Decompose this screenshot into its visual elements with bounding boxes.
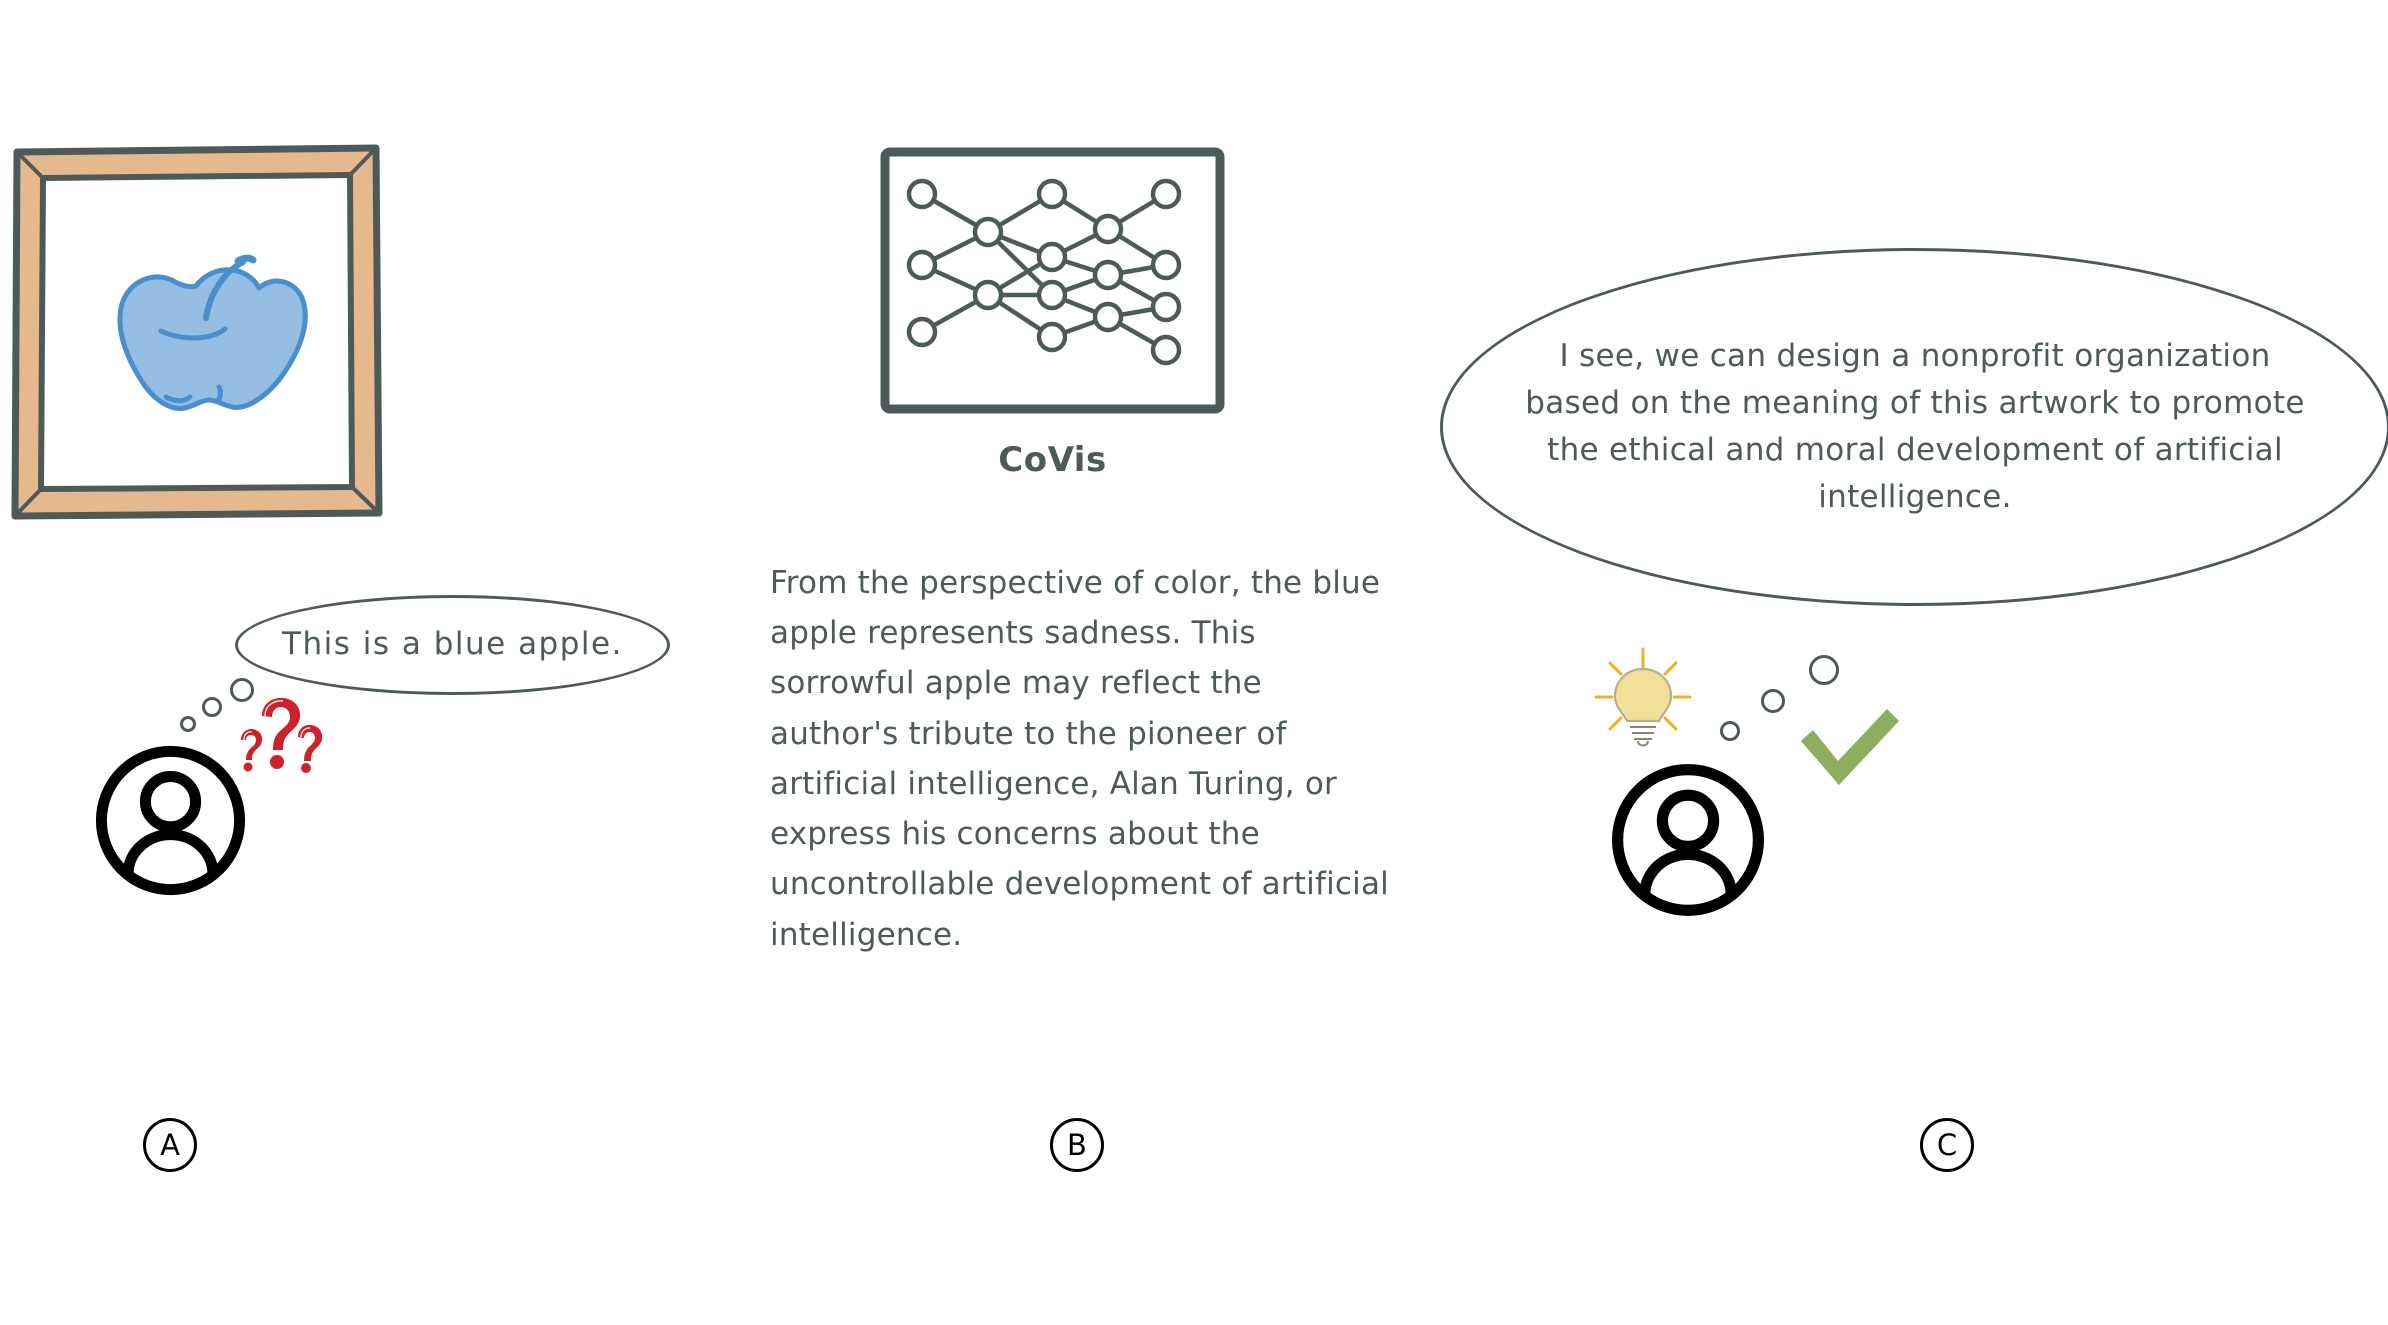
panel-label-c: C <box>1920 1118 1974 1172</box>
thought-bubble-text-c: I see, we can design a nonprofit organiz… <box>1440 248 2388 606</box>
thought-bubble-panel-a: This is a blue apple. <box>235 595 670 695</box>
avatar-panel-c <box>1608 760 1768 920</box>
lightbulb-icon <box>1588 645 1698 755</box>
thought-dot-medium <box>202 697 222 717</box>
thought-dot-medium-c <box>1761 689 1785 713</box>
question-marks-icon <box>236 694 328 780</box>
panel-label-a: A <box>143 1118 197 1172</box>
thought-bubble-text-a: This is a blue apple. <box>235 595 670 695</box>
green-checkmark-icon <box>1795 705 1905 795</box>
covis-response-text: From the perspective of color, the blue … <box>770 558 1395 960</box>
neural-network-icon <box>880 147 1225 414</box>
panel-label-b: B <box>1050 1118 1104 1172</box>
thought-dot-large-c <box>1809 655 1839 685</box>
avatar-panel-a <box>92 742 249 899</box>
figure-canvas: This is a blue apple. <box>0 0 2388 1325</box>
thought-bubble-panel-c: I see, we can design a nonprofit organiz… <box>1440 248 2388 606</box>
covis-title: CoVis <box>880 440 1225 480</box>
thought-dot-small <box>180 716 196 732</box>
framed-artwork <box>10 143 383 520</box>
thought-dot-small-c <box>1720 721 1740 741</box>
